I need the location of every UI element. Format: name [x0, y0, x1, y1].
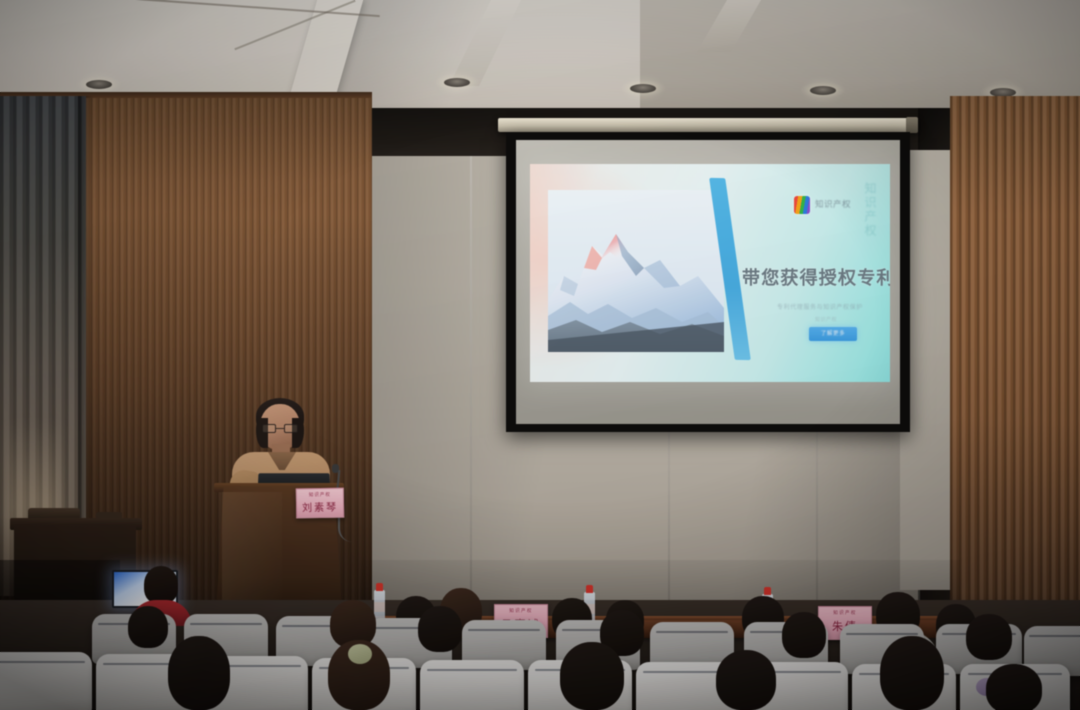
company-logo-icon	[794, 196, 810, 214]
hair-scrunchie	[348, 644, 372, 664]
company-logo-text: 知识产权	[815, 198, 859, 210]
slide-title: 带您获得授权专利	[742, 269, 890, 287]
nameplate-org: 知识产权	[495, 608, 547, 614]
screen-housing-endcap	[906, 117, 918, 133]
auditorium-seat	[420, 660, 524, 710]
lens-right	[284, 424, 298, 433]
right-wood-slat-wall	[950, 96, 1080, 636]
slide-watermark: 知识产权	[858, 182, 880, 238]
slide-subtitle-secondary: 知识产权	[815, 316, 837, 323]
projected-slide: 知识产权 带您获得授权专利 专利代理服务与知识产权保护 知识产权 了解更多 知识…	[530, 164, 890, 382]
projection-screen: 知识产权 带您获得授权专利 专利代理服务与知识产权保护 知识产权 了解更多 知识…	[516, 140, 900, 424]
slide-cta-button: 了解更多	[809, 327, 857, 341]
nameplate-org: 知识产权	[297, 492, 343, 499]
auditorium-seat	[0, 652, 92, 710]
audience-head	[782, 612, 826, 658]
slide-mountain-image	[548, 190, 724, 352]
audience-head	[418, 606, 462, 652]
audience-head-foreground	[168, 636, 230, 710]
recessed-downlight-icon	[444, 78, 470, 87]
audience-head	[128, 606, 168, 648]
audience-head-foreground	[986, 664, 1042, 710]
podium-highlight	[222, 492, 282, 607]
audience-head-foreground	[560, 642, 624, 710]
speaker-hair-side	[256, 418, 268, 448]
lens-left	[262, 424, 276, 433]
recessed-downlight-icon	[810, 86, 836, 95]
eyeglasses-icon	[262, 424, 298, 433]
glasses-bridge	[276, 428, 284, 429]
conference-hall-photo: 知识产权 带您获得授权专利 专利代理服务与知识产权保护 知识产权 了解更多 知识…	[0, 0, 1080, 710]
recessed-downlight-icon	[86, 80, 112, 89]
audience-head-foreground	[880, 636, 944, 710]
audience-head	[966, 614, 1012, 660]
podium-nameplate: 知识产权 刘素琴	[296, 488, 345, 519]
mountain-illustration	[548, 190, 724, 352]
person-head	[144, 566, 178, 604]
nameplate-name: 刘素琴	[297, 499, 343, 515]
slide-cta-label: 了解更多	[809, 327, 857, 341]
recessed-downlight-icon	[630, 84, 656, 93]
projector-screen-housing	[498, 118, 918, 132]
nameplate-org: 知识产权	[819, 610, 871, 616]
audience-head-foreground	[716, 650, 776, 710]
slide-subtitle: 专利代理服务与知识产权保护	[777, 302, 863, 311]
